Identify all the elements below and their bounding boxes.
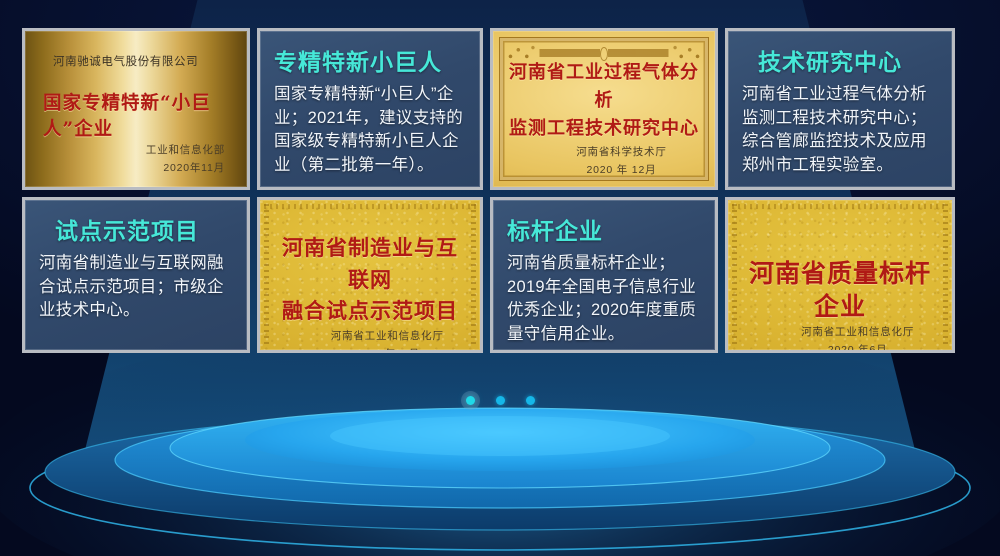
plaque-date: 2020 年6月 bbox=[777, 341, 938, 353]
plaque-date: 2020 年11月 bbox=[309, 345, 466, 353]
award-card-grid: 河南驰诚电气股份有限公司 国家专精特新“小巨人”企业 工业和信息化部 2020年… bbox=[22, 28, 948, 353]
card-heading: 试点示范项目 bbox=[39, 218, 233, 244]
plaque-footer: 工业和信息化部 2020年11月 bbox=[39, 141, 233, 178]
award-card-quality-benchmark-plaque[interactable]: 河南省质量标杆企业 河南省工业和信息化厅 2020 年6月 bbox=[725, 197, 955, 353]
pagination-dot-2[interactable] bbox=[496, 396, 505, 405]
plaque-title: 河南省工业过程气体分析 监测工程技术研究中心 bbox=[507, 59, 701, 143]
plaque-date: 2020年11月 bbox=[39, 159, 225, 177]
plaque-title-line-1: 河南省制造业与互联网 bbox=[274, 232, 466, 295]
award-card-pilot-demo-project-info[interactable]: 试点示范项目 河南省制造业与互联网融合试点示范项目；市级企业技术中心。 bbox=[22, 197, 250, 353]
card-body-text: 国家专精特新“小巨人”企业；2021年，建议支持的国家级专精特新小巨人企业（第二… bbox=[274, 83, 466, 177]
plaque-footer: 河南省工业和信息化厅 2020 年11月 bbox=[274, 327, 466, 354]
plaque-issuer: 河南省工业和信息化厅 bbox=[777, 323, 938, 341]
card-heading: 标杆企业 bbox=[507, 218, 701, 244]
plaque-date: 2020 年 12月 bbox=[542, 161, 701, 179]
honors-showcase-screen: 河南驰诚电气股份有限公司 国家专精特新“小巨人”企业 工业和信息化部 2020年… bbox=[0, 0, 1000, 556]
plaque-company-name: 河南驰诚电气股份有限公司 bbox=[53, 53, 233, 69]
award-card-tech-research-center-info[interactable]: 技术研究中心 河南省工业过程气体分析监测工程技术研究中心；综合管廊监控技术及应用… bbox=[725, 28, 955, 190]
carousel-pagination[interactable] bbox=[0, 396, 1000, 405]
plaque-surface-flat: 河南省质量标杆企业 河南省工业和信息化厅 2020 年6月 bbox=[728, 200, 952, 350]
stage-platform bbox=[0, 336, 1000, 556]
plaque-title-line-2: 监测工程技术研究中心 bbox=[507, 115, 701, 143]
card-body-text: 河南省制造业与互联网融合试点示范项目；市级企业技术中心。 bbox=[39, 252, 233, 322]
plaque-surface-ornate: 河南省工业过程气体分析 监测工程技术研究中心 河南省科学技术厅 2020 年 1… bbox=[493, 31, 715, 187]
award-card-national-little-giant-plaque[interactable]: 河南驰诚电气股份有限公司 国家专精特新“小巨人”企业 工业和信息化部 2020年… bbox=[22, 28, 250, 190]
plaque-surface-brushed: 河南驰诚电气股份有限公司 国家专精特新“小巨人”企业 工业和信息化部 2020年… bbox=[25, 31, 247, 187]
plaque-surface-flat: 河南省制造业与互联网 融合试点示范项目 河南省工业和信息化厅 2020 年11月 bbox=[260, 200, 480, 350]
card-body-text: 河南省质量标杆企业；2019年全国电子信息行业优秀企业；2020年度重质量守信用… bbox=[507, 252, 701, 346]
plaque-title: 河南省制造业与互联网 融合试点示范项目 bbox=[274, 232, 466, 327]
pagination-dot-3[interactable] bbox=[526, 396, 535, 405]
card-heading: 专精特新小巨人 bbox=[274, 49, 466, 75]
plaque-footer: 河南省工业和信息化厅 2020 年6月 bbox=[742, 323, 938, 353]
plaque-title: 国家专精特新“小巨人”企业 bbox=[39, 89, 233, 141]
card-heading: 技术研究中心 bbox=[742, 49, 938, 75]
pagination-dot-1[interactable] bbox=[466, 396, 475, 405]
plaque-title-line-2: 融合试点示范项目 bbox=[274, 295, 466, 327]
plaque-footer: 河南省科学技术厅 2020 年 12月 bbox=[507, 143, 701, 180]
plaque-issuer: 河南省工业和信息化厅 bbox=[309, 327, 466, 345]
award-card-manufacturing-internet-plaque[interactable]: 河南省制造业与互联网 融合试点示范项目 河南省工业和信息化厅 2020 年11月 bbox=[257, 197, 483, 353]
plaque-issuer: 工业和信息化部 bbox=[39, 141, 225, 159]
plaque-title-line-1: 河南省工业过程气体分析 bbox=[507, 59, 701, 115]
award-card-gas-analysis-research-center-plaque[interactable]: 河南省工业过程气体分析 监测工程技术研究中心 河南省科学技术厅 2020 年 1… bbox=[490, 28, 718, 190]
plaque-title: 河南省质量标杆企业 bbox=[742, 258, 938, 323]
card-body-text: 河南省工业过程气体分析监测工程技术研究中心；综合管廊监控技术及应用郑州市工程实验… bbox=[742, 83, 938, 177]
plaque-issuer: 河南省科学技术厅 bbox=[542, 143, 701, 161]
award-card-little-giant-info[interactable]: 专精特新小巨人 国家专精特新“小巨人”企业；2021年，建议支持的国家级专精特新… bbox=[257, 28, 483, 190]
award-card-benchmark-enterprise-info[interactable]: 标杆企业 河南省质量标杆企业；2019年全国电子信息行业优秀企业；2020年度重… bbox=[490, 197, 718, 353]
